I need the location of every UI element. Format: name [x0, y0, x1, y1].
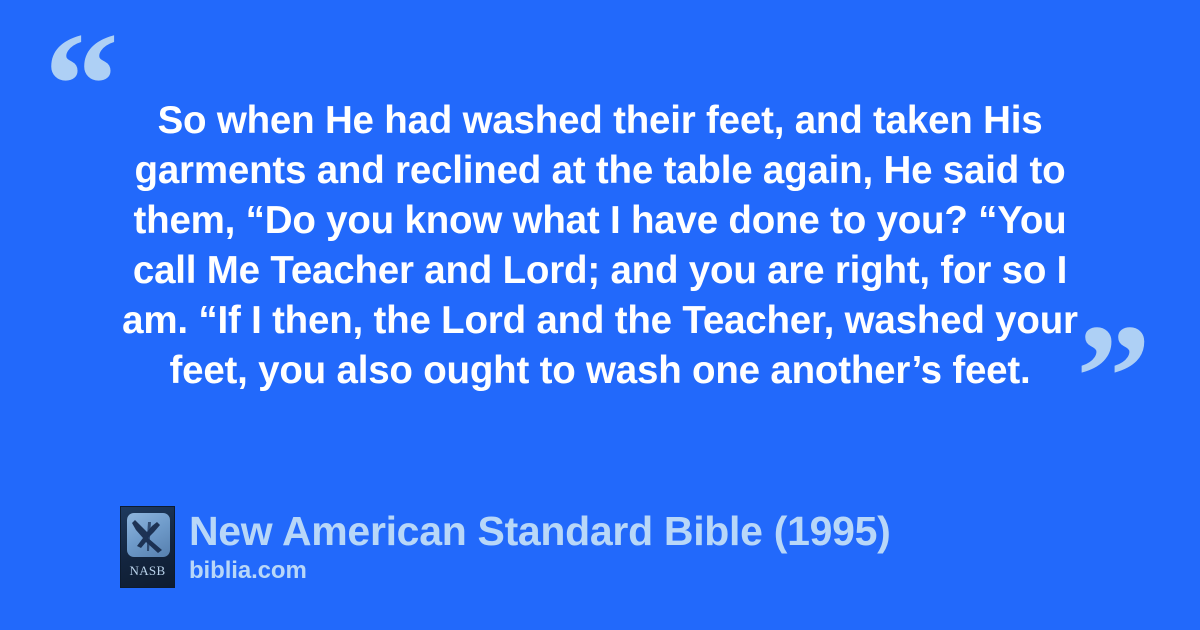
- nasb-cross-emblem-icon: [127, 513, 170, 557]
- quote-block: So when He had washed their feet, and ta…: [100, 96, 1100, 396]
- footer-text-group: New American Standard Bible (1995) bibli…: [189, 506, 890, 585]
- attribution-footer: NASB New American Standard Bible (1995) …: [120, 506, 890, 588]
- nasb-logo-icon: NASB: [120, 506, 175, 588]
- source-website-label: biblia.com: [189, 557, 890, 585]
- quote-poster: “ So when He had washed their feet, and …: [0, 0, 1200, 630]
- nasb-logo-label: NASB: [121, 563, 174, 579]
- bible-version-title: New American Standard Bible (1995): [189, 507, 890, 555]
- close-quote-mark-icon: ”: [1076, 302, 1149, 452]
- quote-text: So when He had washed their feet, and ta…: [100, 96, 1100, 396]
